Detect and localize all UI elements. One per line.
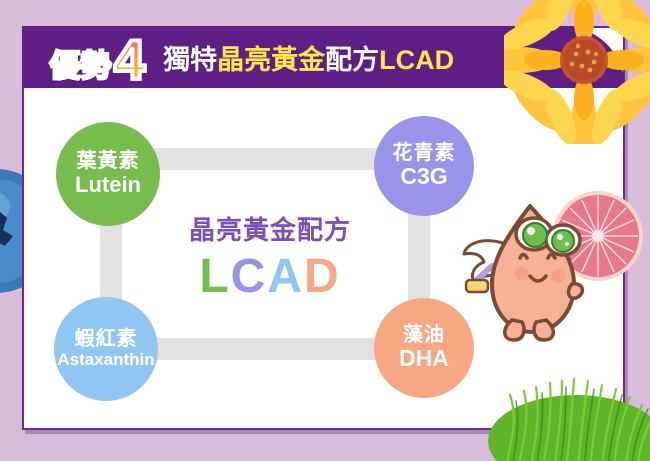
node-lutein-cn: 葉黃素	[77, 151, 140, 173]
node-astaxanthin[interactable]: 蝦紅素 Astaxanthin	[54, 297, 158, 401]
page-title-part-4: LCAD	[379, 45, 454, 75]
diagram-center-label: 晶亮黃金配方 LCAD	[170, 210, 370, 304]
node-dha[interactable]: 藻油 DHA	[374, 298, 474, 398]
peach-mascot-icon	[462, 196, 598, 346]
node-c3g-en: C3G	[400, 164, 447, 189]
page-title-part-3: 配方	[325, 45, 379, 75]
page-title: 獨特晶亮黃金配方LCAD	[163, 38, 454, 77]
acronym-lcad: LCAD	[170, 249, 370, 304]
node-dha-cn: 藻油	[403, 325, 445, 347]
node-astaxanthin-cn: 蝦紅素	[75, 329, 138, 351]
node-lutein-en: Lutein	[75, 173, 141, 197]
poster-stage: 葉黃素 Lutein 花青素 C3G 蝦紅素 Astaxanthin 藻油 DH…	[0, 0, 650, 461]
formula-label: 晶亮黃金配方	[170, 210, 370, 247]
page-title-part-2: 晶亮黃金	[217, 45, 325, 75]
node-lutein[interactable]: 葉黃素 Lutein	[56, 122, 160, 226]
acronym-letter-a: A	[267, 250, 304, 303]
acronym-letter-c: C	[231, 250, 268, 303]
page-title-part-1: 獨特	[163, 45, 217, 75]
acronym-letter-l: L	[199, 250, 230, 303]
advantage-badge: 優勢 4	[50, 32, 145, 82]
acronym-letter-d: D	[304, 250, 341, 303]
marigold-flower-icon	[504, 0, 650, 144]
grass-tuft-icon	[476, 331, 650, 461]
node-dha-en: DHA	[399, 346, 449, 371]
node-astaxanthin-en: Astaxanthin	[57, 351, 154, 369]
advantage-badge-number: 4	[114, 32, 145, 88]
node-c3g-cn: 花青素	[393, 143, 456, 165]
advantage-badge-word: 優勢	[50, 52, 112, 82]
node-c3g[interactable]: 花青素 C3G	[374, 116, 474, 216]
